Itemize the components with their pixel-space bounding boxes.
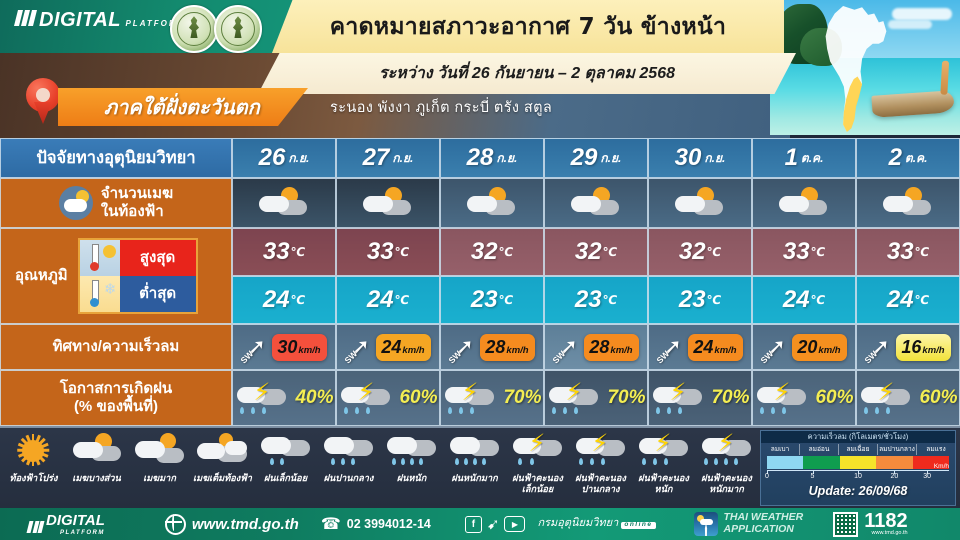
- partly-cloudy-icon: [255, 186, 313, 220]
- wind-speed-value: 16: [901, 337, 921, 358]
- wind-category-1: ลมอ่อน: [800, 444, 839, 455]
- temp-min-cell-0: 24 ℃: [232, 276, 336, 324]
- facebook-icon[interactable]: f: [465, 516, 482, 533]
- thai-weather-app[interactable]: THAI WEATHER APPLICATION: [694, 512, 804, 536]
- legend-item-10: ⚡ ฝนฟ้าคะนองหนัก: [632, 430, 695, 506]
- day-month: ก.ย.: [288, 149, 309, 168]
- day-number: 29: [571, 144, 598, 172]
- wind-direction-indicator: ➚ SW: [241, 332, 271, 362]
- rain-probability: 70%: [711, 387, 749, 409]
- table-row-label-wind: ทิศทาง/ความเร็วลม: [0, 324, 232, 370]
- partly-cloudy-icon: [775, 186, 833, 220]
- rain-cell-2: ⚡ 70%: [440, 370, 544, 426]
- wind-cell-6: ➚ SW 16 km/h: [856, 324, 960, 370]
- temp-unit: ℃: [707, 293, 722, 307]
- wind-speed-pill: 16 km/h: [896, 334, 950, 361]
- date-range: ระหว่าง วันที่ 26 กันยายน – 2 ตุลาคม 256…: [379, 61, 675, 86]
- day-month: ก.ย.: [392, 149, 413, 168]
- rain-probability: 60%: [919, 387, 957, 409]
- day-month: ก.ย.: [496, 149, 517, 168]
- temp-unit: ℃: [603, 245, 618, 259]
- department-online-badge: online: [621, 522, 655, 529]
- date-banner: ระหว่าง วันที่ 26 กันยายน – 2 ตุลาคม 256…: [258, 53, 796, 94]
- province-list: ระนอง พังงา ภูเก็ต กระบี่ ตรัง สตูล: [330, 96, 552, 119]
- wind-tick-label-0: 0: [765, 473, 769, 480]
- thunderstorm-icon: ⚡: [650, 381, 708, 415]
- day-header-4: 30 ก.ย.: [648, 138, 752, 178]
- temp-unit: ℃: [603, 293, 618, 307]
- wind-cell-5: ➚ SW 20 km/h: [752, 324, 856, 370]
- temp-max-cell-1: 33 ℃: [336, 228, 440, 276]
- wind-speed-unit: km/h: [506, 345, 528, 356]
- temp-unit: ℃: [395, 245, 410, 259]
- cloud-cell-0: [232, 178, 336, 228]
- cloud-cell-6: [856, 178, 960, 228]
- social-links: f ➹ ▶ กรมอุตุนิยมวิทยา online: [465, 515, 656, 533]
- phone-text: 02 3994012-14: [347, 517, 431, 531]
- day-header-5: 1 ต.ค.: [752, 138, 856, 178]
- partly-cloudy-icon: [879, 186, 937, 220]
- clouds-label-l1: จำนวนเมฆ: [101, 185, 173, 203]
- wind-speed-pill: 24 km/h: [688, 334, 742, 361]
- department-name: กรมอุตุนิยมวิทยา: [537, 517, 618, 529]
- hotline-block[interactable]: 1182 www.tmd.go.th: [833, 511, 907, 537]
- day-number: 27: [363, 144, 390, 172]
- website-link[interactable]: www.tmd.go.th: [165, 514, 299, 535]
- temp-min-value: 23: [575, 286, 602, 314]
- temp-min-value: 23: [471, 286, 498, 314]
- clouds-label-l2: ในท้องฟ้า: [101, 203, 173, 221]
- wind-speed-unit: km/h: [922, 345, 944, 356]
- logo-bars-icon: [16, 10, 35, 26]
- phone-icon: ☎: [321, 514, 341, 534]
- rain-probability: 70%: [503, 387, 541, 409]
- day-month: ต.ค.: [905, 149, 928, 168]
- thunderstorm-icon: ⚡: [234, 381, 292, 415]
- temp-min-cell-4: 23 ℃: [648, 276, 752, 324]
- cloud-cell-4: [648, 178, 752, 228]
- partly-cloudy-icon: [671, 186, 729, 220]
- temp-max-cell-4: 32 ℃: [648, 228, 752, 276]
- wind-label: ทิศทาง/ความเร็วลม: [53, 338, 180, 356]
- rain-probability: 60%: [815, 387, 853, 409]
- wind-direction-indicator: ➚ SW: [761, 332, 791, 362]
- footer-logo-sub: PLATFORM: [46, 530, 105, 536]
- rain-cell-5: ⚡ 60%: [752, 370, 856, 426]
- wind-category-0: ลมเบา: [761, 444, 800, 455]
- temp-min-cell-2: 23 ℃: [440, 276, 544, 324]
- wind-cell-0: ➚ SW 30 km/h: [232, 324, 336, 370]
- legend-item-label: เมฆมาก: [143, 473, 176, 484]
- wind-speed-unit: km/h: [714, 345, 736, 356]
- day-month: ต.ค.: [801, 149, 824, 168]
- table-row-label-rain: โอกาสการเกิดฝน (% ของพื้นที่): [0, 370, 232, 426]
- day-number: 1: [785, 144, 798, 172]
- wind-legend-axis: Km/h 0 5 10 20 30: [767, 470, 949, 483]
- wind-color-swatch-3: [876, 456, 912, 469]
- legend-item-label: ฝนปานกลาง: [324, 473, 374, 484]
- temp-unit: ℃: [811, 293, 826, 307]
- cloud-cell-3: [544, 178, 648, 228]
- temp-max-value: 33: [367, 238, 394, 266]
- temp-unit: ℃: [499, 245, 514, 259]
- wind-speed-pill: 24 km/h: [376, 334, 430, 361]
- temp-min-cell-1: 24 ℃: [336, 276, 440, 324]
- legend-item-0: ท้องฟ้าโปร่ง: [2, 430, 65, 506]
- wind-legend-colorbar: [767, 456, 949, 469]
- legend-item-label: ฝนฟ้าคะนองเล็กน้อย: [512, 473, 563, 495]
- table-row-label-temperature: อุณหภูมิ สูงสุด ❄ ต่ำสุด: [0, 228, 232, 324]
- wind-direction-indicator: ➚ SW: [345, 332, 375, 362]
- thailand-beach-photo: [770, 0, 960, 135]
- rain-cell-4: ⚡ 70%: [648, 370, 752, 426]
- temp-max-cell-0: 33 ℃: [232, 228, 336, 276]
- legend-item-label: ฝนฟ้าคะนองหนัก: [638, 473, 689, 495]
- footer-logo-bars-icon: [28, 521, 43, 533]
- footer-logo-main: DIGITAL: [46, 512, 105, 529]
- day-number: 2: [889, 144, 902, 172]
- wind-direction-indicator: ➚ SW: [657, 332, 687, 362]
- temp-min-value: 24: [367, 286, 394, 314]
- partly-cloudy-icon: [359, 186, 417, 220]
- table-row-label-clouds: จำนวนเมฆ ในท้องฟ้า: [0, 178, 232, 228]
- qr-code-icon: [833, 512, 858, 537]
- wind-speed-unit: km/h: [298, 345, 320, 356]
- legend-item-1: เมฆบางส่วน: [65, 430, 128, 506]
- wind-category-3: ลมปานกลาง: [878, 444, 917, 455]
- legend-item-6: ฝนหนัก: [380, 430, 443, 506]
- temp-max-value: 32: [575, 238, 602, 266]
- temp-max-value: 33: [263, 238, 290, 266]
- thunderstorm-icon: ⚡: [442, 381, 500, 415]
- thunderstorm-icon: ⚡: [858, 381, 916, 415]
- cloud-cell-5: [752, 178, 856, 228]
- legend-item-5: ฝนปานกลาง: [317, 430, 380, 506]
- wind-cell-4: ➚ SW 24 km/h: [648, 324, 752, 370]
- temp-unit: ℃: [915, 245, 930, 259]
- phone-number[interactable]: ☎ 02 3994012-14: [321, 514, 431, 534]
- legend-item-8: ⚡ ฝนฟ้าคะนองเล็กน้อย: [506, 430, 569, 506]
- temp-max-value: 33: [783, 238, 810, 266]
- page-title: คาดหมายสภาวะอากาศ 7 วัน ข้างหน้า: [330, 9, 727, 45]
- rain-probability: 60%: [399, 387, 437, 409]
- wind-speed-value: 28: [485, 337, 505, 358]
- temp-min-value: 24: [263, 286, 290, 314]
- wind-tick-label-2: 10: [854, 473, 862, 480]
- thermometer-cold-icon: ❄: [80, 276, 120, 312]
- app-name-line2: APPLICATION: [724, 524, 804, 536]
- factor-label: ปัจจัยทางอุตุนิยมวิทยา: [36, 145, 195, 171]
- wind-category-4: ลมแรง: [917, 444, 955, 455]
- legend-item-11: ⚡ ฝนฟ้าคะนองหนักมาก: [695, 430, 758, 506]
- wind-tick-label-1: 5: [811, 473, 815, 480]
- cloud-cell-2: [440, 178, 544, 228]
- wind-direction-indicator: ➚ SW: [865, 332, 895, 362]
- temp-max-cell-2: 32 ℃: [440, 228, 544, 276]
- thunderstorm-icon: ⚡: [754, 381, 812, 415]
- temperature-label: อุณหภูมิ: [15, 267, 68, 285]
- temp-unit: ℃: [291, 245, 306, 259]
- forecast-table: ปัจจัยทางอุตุนิยมวิทยา 26 ก.ย. 27 ก.ย. 2…: [0, 138, 960, 428]
- footer: DIGITAL PLATFORM www.tmd.go.th ☎ 02 3994…: [0, 508, 960, 540]
- day-header-6: 2 ต.ค.: [856, 138, 960, 178]
- update-timestamp: Update: 26/09/68: [761, 484, 955, 498]
- wind-speed-pill: 28 km/h: [584, 334, 638, 361]
- wind-speed-unit: km/h: [818, 345, 840, 356]
- wind-legend-title: ความเร็วลม (กิโลเมตร/ชั่วโมง): [761, 431, 955, 443]
- thunderstorm-icon: ⚡: [546, 381, 604, 415]
- wind-cell-2: ➚ SW 28 km/h: [440, 324, 544, 370]
- wind-cell-3: ➚ SW 28 km/h: [544, 324, 648, 370]
- photo-cloud: [892, 8, 952, 20]
- rain-cell-1: ⚡ 60%: [336, 370, 440, 426]
- temp-unit: ℃: [291, 293, 306, 307]
- temp-unit: ℃: [811, 245, 826, 259]
- day-month: ก.ย.: [600, 149, 621, 168]
- location-pin-icon: [26, 78, 60, 124]
- hotline-number: 1182: [864, 510, 907, 532]
- wind-speed-pill: 20 km/h: [792, 334, 846, 361]
- wind-direction-indicator: ➚ SW: [553, 332, 583, 362]
- cloud-sun-icon: [59, 186, 93, 220]
- wind-color-swatch-1: [803, 456, 839, 469]
- temp-unit: ℃: [499, 293, 514, 307]
- thunderstorm-icon: ⚡: [338, 381, 396, 415]
- temp-min-cell-6: 24 ℃: [856, 276, 960, 324]
- wind-tick-label-3: 20: [890, 473, 898, 480]
- rain-cell-0: ⚡ 40%: [232, 370, 336, 426]
- header: DIGITAL PLATFORM คาดหมายสภาวะอากาศ 7 วัน…: [0, 0, 960, 138]
- region-name: ภาคใต้ฝั่งตะวันตก: [104, 91, 260, 123]
- temp-min-value: 24: [783, 286, 810, 314]
- photo-cloud: [888, 20, 932, 29]
- weather-legend: ท้องฟ้าโปร่ง เมฆบางส่วน เมฆมาก: [0, 428, 960, 508]
- wind-cell-1: ➚ SW 24 km/h: [336, 324, 440, 370]
- wind-speed-pill: 30 km/h: [272, 334, 326, 361]
- legend-item-3: เมฆเต็มท้องฟ้า: [191, 430, 254, 506]
- app-icon: [694, 512, 718, 536]
- region-ribbon: ภาคใต้ฝั่งตะวันตก: [58, 88, 308, 126]
- legend-item-label: ท้องฟ้าโปร่ง: [10, 473, 58, 484]
- temp-max-cell-5: 33 ℃: [752, 228, 856, 276]
- logo-main-text: DIGITAL: [39, 9, 121, 31]
- rain-label-l1: โอกาสการเกิดฝน: [60, 380, 172, 398]
- wind-speed-value: 24: [381, 337, 401, 358]
- wind-speed-value: 28: [589, 337, 609, 358]
- day-number: 28: [467, 144, 494, 172]
- temp-min-value: 23: [679, 286, 706, 314]
- temp-unit: ℃: [915, 293, 930, 307]
- temp-max-value: 32: [679, 238, 706, 266]
- temp-min-value: 24: [887, 286, 914, 314]
- temp-unit: ℃: [395, 293, 410, 307]
- legend-item-label: เมฆบางส่วน: [72, 473, 121, 484]
- title-banner: คาดหมายสภาวะอากาศ 7 วัน ข้างหน้า: [272, 0, 784, 53]
- footer-digital-platform-logo: DIGITAL PLATFORM: [28, 512, 105, 536]
- day-number: 26: [259, 144, 286, 172]
- wind-speed-value: 30: [277, 337, 297, 358]
- temp-max-value: 33: [887, 238, 914, 266]
- day-header-0: 26 ก.ย.: [232, 138, 336, 178]
- day-month: ก.ย.: [704, 149, 725, 168]
- temp-max-cell-3: 32 ℃: [544, 228, 648, 276]
- temp-unit: ℃: [707, 245, 722, 259]
- legend-item-label: ฝนฟ้าคะนองหนักมาก: [701, 473, 752, 495]
- rain-cell-6: ⚡ 60%: [856, 370, 960, 426]
- temp-max-cell-6: 33 ℃: [856, 228, 960, 276]
- wind-color-swatch-2: [840, 456, 876, 469]
- day-number: 30: [675, 144, 702, 172]
- weather-legend-items: ท้องฟ้าโปร่ง เมฆบางส่วน เมฆมาก: [2, 430, 758, 506]
- rain-probability: 70%: [607, 387, 645, 409]
- twitter-icon[interactable]: ➹: [487, 515, 500, 533]
- wind-speed-unit: km/h: [610, 345, 632, 356]
- day-header-1: 27 ก.ย.: [336, 138, 440, 178]
- temp-min-cell-5: 24 ℃: [752, 276, 856, 324]
- tmd-seal-icon: [214, 5, 262, 53]
- wind-color-swatch-0: [767, 456, 803, 469]
- temp-min-cell-3: 23 ℃: [544, 276, 648, 324]
- legend-item-label: ฝนเล็กน้อย: [264, 473, 307, 484]
- wind-speed-pill: 28 km/h: [480, 334, 534, 361]
- wind-speed-value: 24: [693, 337, 713, 358]
- day-header-3: 29 ก.ย.: [544, 138, 648, 178]
- rain-label-l2: (% ของพื้นที่): [60, 398, 172, 416]
- wind-category-2: ลมเฉื่อย: [839, 444, 878, 455]
- temp-max-label: สูงสุด: [120, 240, 196, 276]
- rain-cell-3: ⚡ 70%: [544, 370, 648, 426]
- wind-direction-indicator: ➚ SW: [449, 332, 479, 362]
- wind-tick-label-4: 30: [923, 473, 931, 480]
- legend-item-label: เมฆเต็มท้องฟ้า: [193, 473, 252, 484]
- infographic-root: DIGITAL PLATFORM คาดหมายสภาวะอากาศ 7 วัน…: [0, 0, 960, 540]
- legend-item-9: ⚡ ฝนฟ้าคะนองปานกลาง: [569, 430, 632, 506]
- youtube-icon[interactable]: ▶: [504, 516, 525, 532]
- wind-speed-legend: ความเร็วลม (กิโลเมตร/ชั่วโมง) ลมเบาลมอ่อ…: [760, 430, 956, 506]
- cloud-cell-1: [336, 178, 440, 228]
- legend-item-2: เมฆมาก: [128, 430, 191, 506]
- table-row-label-factor: ปัจจัยทางอุตุนิยมวิทยา: [0, 138, 232, 178]
- wind-speed-value: 20: [797, 337, 817, 358]
- wind-legend-labels: ลมเบาลมอ่อนลมเฉื่อยลมปานกลางลมแรง: [761, 444, 955, 455]
- legend-item-label: ฝนหนัก: [397, 473, 427, 484]
- wind-speed-unit: km/h: [402, 345, 424, 356]
- royal-seal-icon: [170, 5, 218, 53]
- digital-platform-logo: DIGITAL PLATFORM: [16, 10, 185, 30]
- partly-cloudy-icon: [567, 186, 625, 220]
- rain-probability: 40%: [295, 387, 333, 409]
- wind-legend-unit: Km/h: [934, 463, 949, 470]
- temp-min-label: ต่ำสุด: [120, 276, 196, 312]
- legend-item-label: ฝนฟ้าคะนองปานกลาง: [575, 473, 626, 495]
- website-url: www.tmd.go.th: [192, 516, 299, 533]
- legend-item-7: ฝนหนักมาก: [443, 430, 506, 506]
- day-header-2: 28 ก.ย.: [440, 138, 544, 178]
- legend-item-4: ฝนเล็กน้อย: [254, 430, 317, 506]
- temp-max-value: 32: [471, 238, 498, 266]
- thermometer-hot-icon: [80, 240, 120, 276]
- globe-icon: [165, 514, 186, 535]
- legend-item-label: ฝนหนักมาก: [451, 473, 497, 484]
- partly-cloudy-icon: [463, 186, 521, 220]
